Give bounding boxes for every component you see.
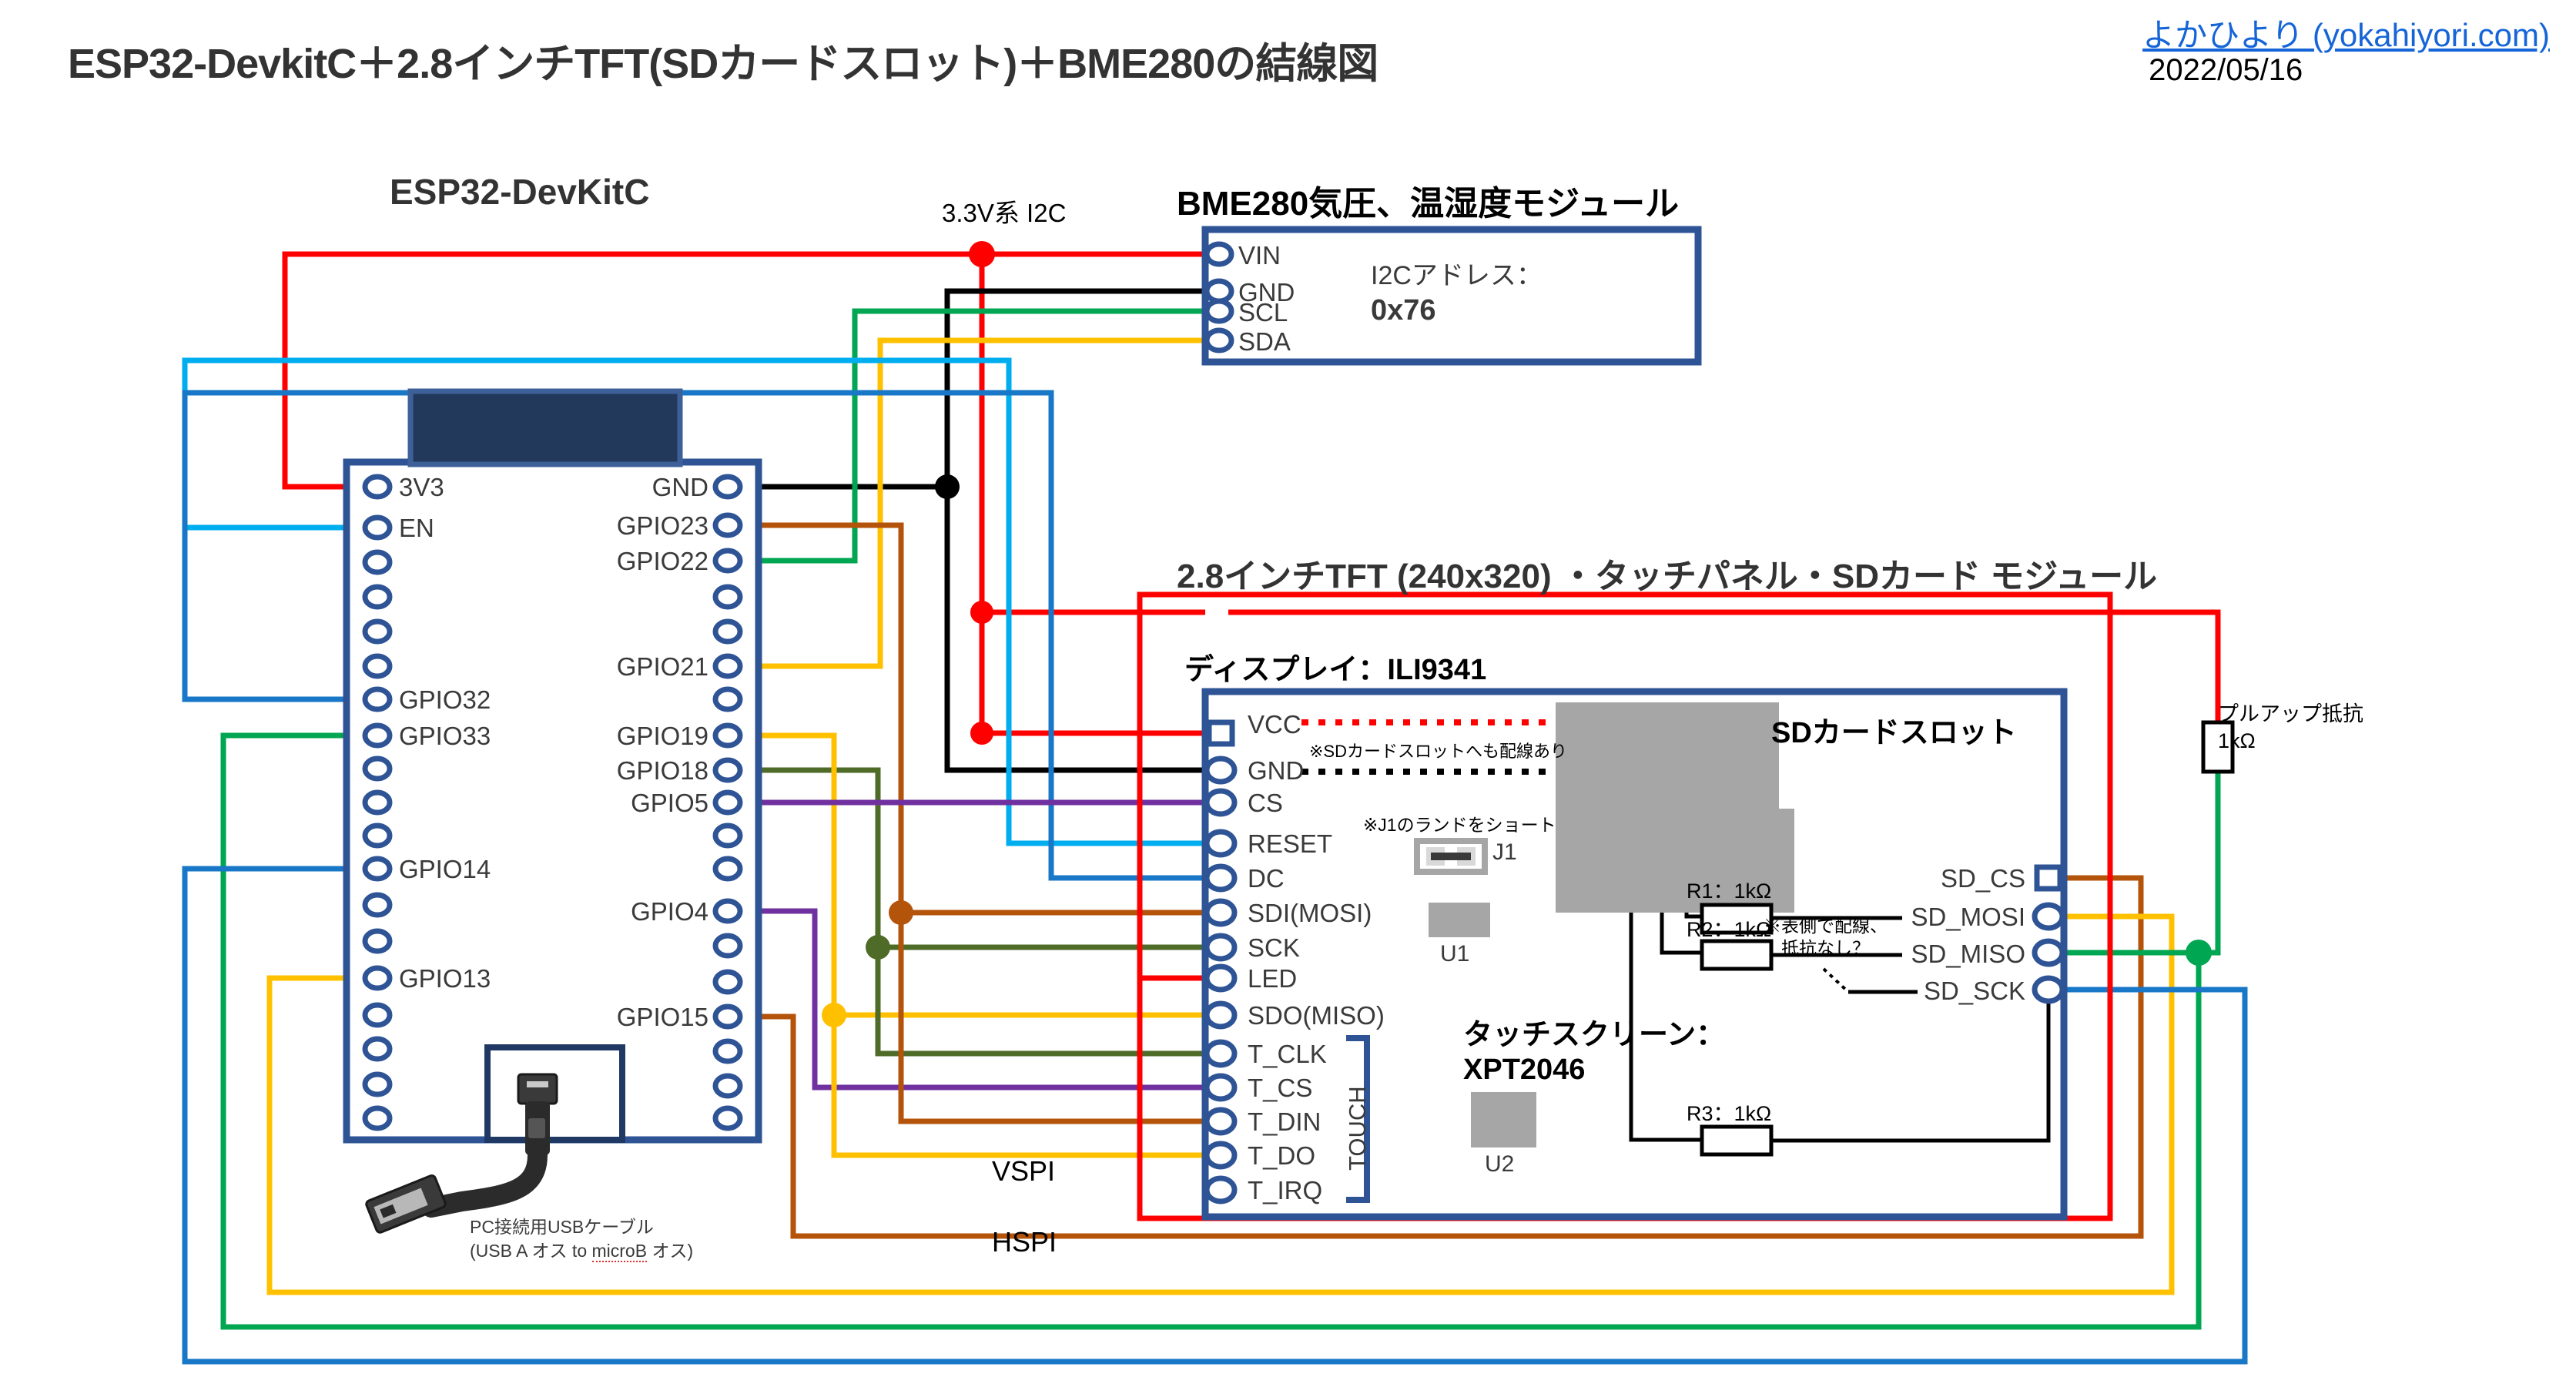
diagram-canvas: ESP32-DevkitC＋2.8インチTFT(SDカードスロット)＋BME28… — [0, 0, 2576, 1377]
sd-pin-cs: SD_CS — [1856, 864, 2025, 893]
resistor-r3-label: R3：1kΩ — [1687, 1097, 1771, 1127]
wire-red-i2c-down — [982, 254, 1205, 612]
wire-gnd-black — [743, 291, 1205, 487]
chip-u1-label: U1 — [1440, 941, 1469, 967]
tft-pin-t-din: T_DIN — [1248, 1107, 1321, 1137]
tft-pin-gnd: GND — [1248, 756, 1304, 786]
pullup-label: プルアップ抵抗 1kΩ — [2218, 701, 2363, 755]
j1-label: J1 — [1492, 839, 1517, 866]
tft-pin-holes — [1207, 722, 1234, 1201]
chip-u2-label: U2 — [1485, 1151, 1514, 1178]
tft-heading: 2.8インチTFT (240x320) ・タッチパネル・SDカード モジュール — [1177, 548, 2157, 598]
site-link[interactable]: よかひより (yokahiyori.com) — [2142, 17, 2550, 53]
pullup-label-line2: 1kΩ — [2218, 728, 2363, 755]
bme280-address-value: 0x76 — [1371, 294, 1436, 327]
wire-gpio4-tcs — [743, 911, 1205, 1087]
bme280-address-label: I2Cアドレス： — [1371, 254, 1543, 292]
esp32-pin-gpio14: GPIO14 — [399, 855, 491, 884]
esp32-pin-gpio15: GPIO15 — [539, 1003, 708, 1032]
pullup-label-line1: プルアップ抵抗 — [2218, 701, 2363, 728]
note-j1-short: ※J1のランドをショート — [1363, 810, 1556, 836]
display-heading: ディスプレイ：ILI9341 — [1184, 645, 1486, 688]
tft-pin-t-irq: T_IRQ — [1248, 1176, 1322, 1205]
junction-sdmiso — [2186, 940, 2212, 966]
resistor-r1-label: R1：1kΩ — [1687, 874, 1771, 904]
bme280-heading: BME280気圧、温湿度モジュール — [1177, 176, 1679, 225]
j1-pad-glyph — [1417, 841, 1485, 872]
tft-pin-reset: RESET — [1248, 829, 1332, 859]
tft-pin-sdi-mosi: SDI(MOSI) — [1248, 899, 1372, 928]
esp32-pin-gpio19: GPIO19 — [539, 722, 708, 751]
tft-pin-cs: CS — [1248, 789, 1283, 818]
resistor-r3 — [1702, 1127, 1771, 1154]
esp32-pin-gpio32: GPIO32 — [399, 685, 491, 715]
vspi-bus-label: VSPI — [992, 1155, 1055, 1188]
tft-pin-sck: SCK — [1248, 933, 1300, 963]
tft-pin-led: LED — [1248, 964, 1297, 993]
note-front-leader — [1824, 969, 1848, 992]
touch-bracket-label: TOUCH — [1344, 1086, 1372, 1171]
usb-cable-caption: PC接続用USBケーブル (USB A オス to microB オス) — [470, 1215, 693, 1263]
usb-caption-pre: (USB A オス to — [470, 1241, 592, 1261]
tft-pin-t-clk: T_CLK — [1248, 1040, 1327, 1069]
esp32-pin-gpio23: GPIO23 — [539, 511, 708, 541]
esp32-pin-gpio4: GPIO4 — [539, 897, 708, 926]
bme280-pin-holes — [1207, 244, 1231, 350]
tft-pin-t-cs: T_CS — [1248, 1074, 1312, 1103]
sd-pin-holes — [2035, 867, 2062, 1001]
esp32-pin-gpio5: GPIO5 — [539, 789, 708, 818]
sd-pin-sck: SD_SCK — [1856, 977, 2025, 1006]
sd-pin-mosi: SD_MOSI — [1856, 903, 2025, 932]
bme-pin-scl: SCL — [1238, 298, 1288, 327]
note-sd-wiring: ※SDカードスロットへも配線あり — [1309, 738, 1567, 762]
junction-red-795 — [970, 601, 993, 624]
credit-block: よかひより (yokahiyori.com) 2022/05/16 — [2142, 17, 2550, 88]
wire-pullup-to-sdmiso — [2199, 770, 2218, 953]
esp32-pin-gpio13: GPIO13 — [399, 964, 491, 993]
junction-3v3 — [969, 241, 995, 267]
tft-pin-t-do: T_DO — [1248, 1141, 1315, 1171]
touchscreen-label-line2: XPT2046 — [1463, 1053, 1725, 1087]
wire-red-led — [982, 612, 1205, 733]
junction-red-952 — [970, 722, 993, 745]
esp32-heading: ESP32-DevKitC — [390, 171, 649, 213]
wire-gpio23-mosi — [743, 525, 1205, 913]
wire-tclk — [878, 947, 1205, 1054]
touchscreen-label: タッチスクリーン： XPT2046 — [1463, 1018, 1725, 1087]
usb-caption-post: オス) — [647, 1241, 693, 1261]
esp32-shield-chip — [410, 391, 680, 464]
chip-u1 — [1429, 903, 1490, 937]
tft-pin-dc: DC — [1248, 864, 1285, 893]
esp32-pin-gpio22: GPIO22 — [539, 547, 708, 576]
esp32-pin-gpio33: GPIO33 — [399, 722, 491, 751]
resistor-r2 — [1702, 941, 1771, 969]
resistor-r2-label: R2：1kΩ — [1687, 913, 1771, 943]
diagram-date: 2022/05/16 — [2142, 53, 2550, 88]
i2c-bus-label: 3.3V系 I2C — [942, 193, 1066, 229]
hspi-bus-label: HSPI — [992, 1226, 1057, 1258]
chip-u2 — [1471, 1092, 1536, 1147]
touchscreen-label-line1: タッチスクリーン： — [1463, 1018, 1725, 1053]
esp32-pin-en: EN — [399, 514, 434, 543]
usb-caption-microb: microB — [592, 1241, 648, 1262]
usb-caption-line2: (USB A オス to microB オス) — [470, 1239, 693, 1263]
page-title: ESP32-DevkitC＋2.8インチTFT(SDカードスロット)＋BME28… — [68, 29, 1378, 90]
esp32-pin-gnd: GND — [539, 473, 708, 502]
sdcard-heading: SDカードスロット — [1771, 709, 2017, 751]
junction-gnd — [935, 474, 960, 499]
bme-pin-vin: VIN — [1238, 241, 1281, 270]
esp32-pin-gpio18: GPIO18 — [539, 756, 708, 786]
tft-pin-sdo-miso: SDO(MISO) — [1248, 1001, 1385, 1030]
esp32-pin-3v3: 3V3 — [399, 473, 444, 502]
esp32-pin-gpio21: GPIO21 — [539, 652, 708, 682]
bme-pin-sda: SDA — [1238, 327, 1291, 357]
tft-pin-vcc: VCC — [1248, 710, 1301, 739]
sd-pin-miso: SD_MISO — [1856, 940, 2025, 969]
usb-caption-line1: PC接続用USBケーブル — [470, 1215, 693, 1239]
